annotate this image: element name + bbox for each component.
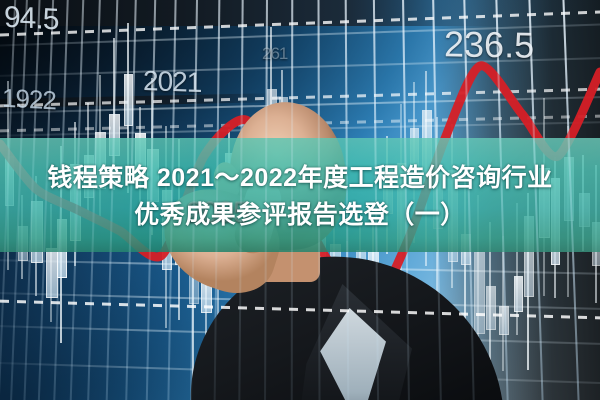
banner-image: 94.5 1922 2021 236.5 261 2005 钱程策略 2021～… [0, 0, 600, 400]
headline-line-1: 钱程策略 2021～2022年度工程造价咨询行业 [0, 160, 600, 197]
page-title: 钱程策略 2021～2022年度工程造价咨询行业 优秀成果参评报告选登（一） [0, 160, 600, 234]
headline-line-2: 优秀成果参评报告选登（一） [0, 197, 600, 234]
